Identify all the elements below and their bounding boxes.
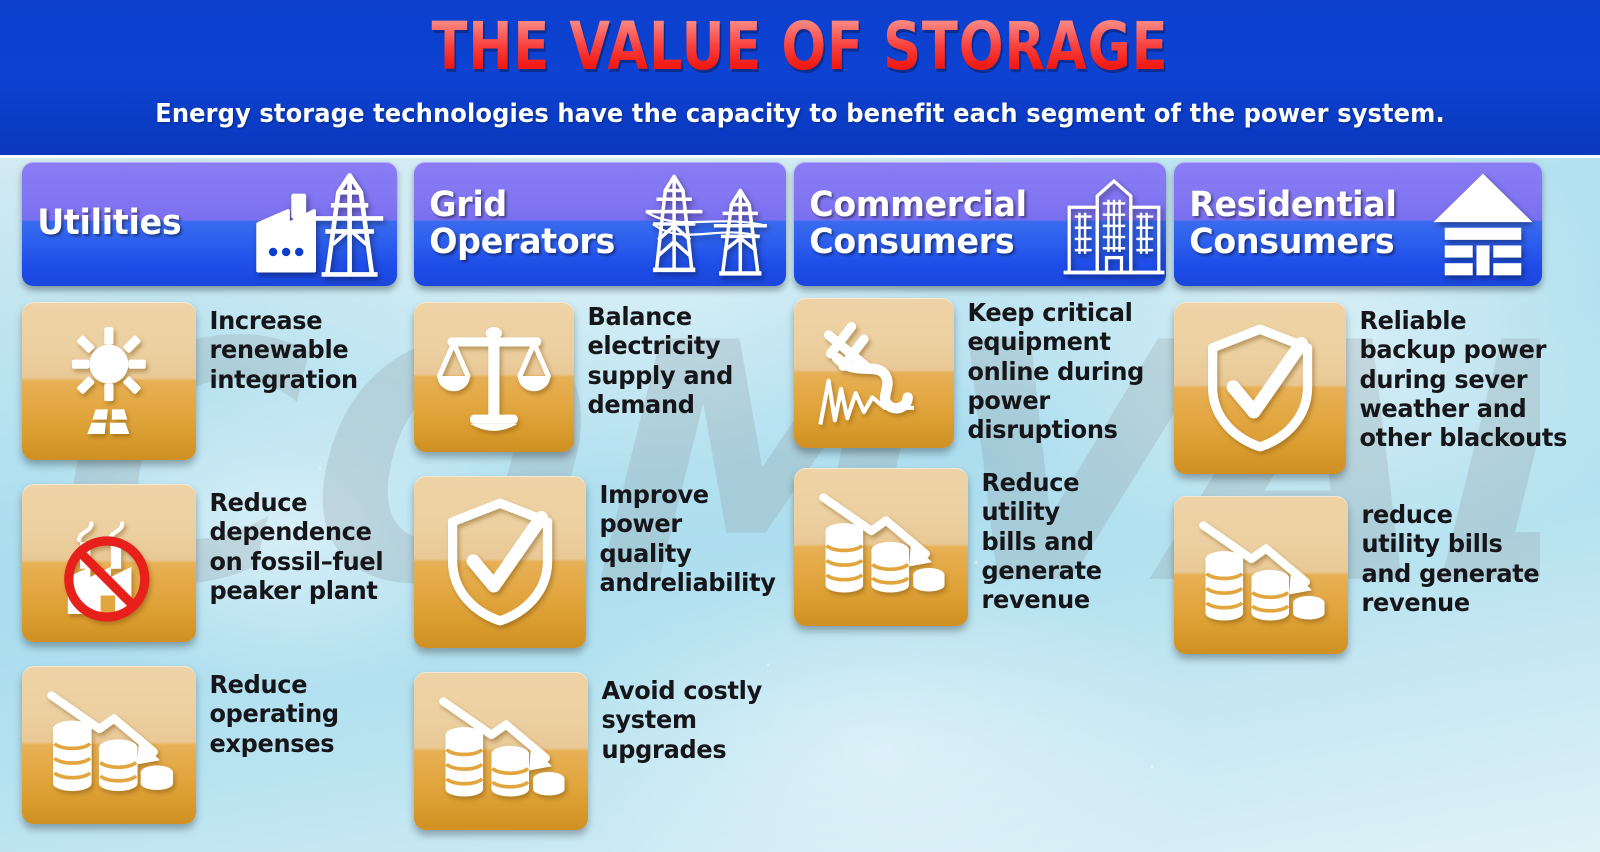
no-fossil-fuel-plant-icon xyxy=(22,484,196,642)
house-icon xyxy=(1408,168,1542,280)
category-card-residential-consumers[interactable]: Residential Consumers xyxy=(1174,162,1542,286)
solar-panel-sun-icon xyxy=(22,302,196,460)
category-card-grid-operators[interactable]: Grid Operators xyxy=(414,162,786,286)
list-item[interactable]: Reduce dependence on fossil–fuel peaker … xyxy=(22,484,408,642)
shield-check-icon xyxy=(414,476,586,648)
poster-header: THE VALUE OF STORAGE Energy storage tech… xyxy=(0,0,1600,158)
page-subtitle: Energy storage technologies have the cap… xyxy=(56,99,1544,129)
column-grid-operators: Grid Operators xyxy=(408,162,786,852)
list-item[interactable]: Keep critical equipment online during po… xyxy=(794,298,1166,448)
benefit-list-commercial-consumers: Keep critical equipment online during po… xyxy=(794,298,1166,626)
shield-check-icon xyxy=(1174,302,1346,474)
list-item[interactable]: Balance electricity supply and demand xyxy=(414,302,786,452)
infographic-poster: COMVAL THE VALUE OF STORAGE Energy stora… xyxy=(0,0,1600,852)
list-item[interactable]: Avoid costly system upgrades xyxy=(414,672,786,830)
list-item-label: Keep critical equipment online during po… xyxy=(954,298,1144,444)
list-item-label: Reduce utility bills and generate revenu… xyxy=(968,468,1102,614)
page-title: THE VALUE OF STORAGE xyxy=(160,0,1440,80)
list-item[interactable]: Reduce operating expenses xyxy=(22,666,408,824)
list-item-label: Reliable backup power during sever weath… xyxy=(1346,302,1567,452)
category-card-commercial-consumers[interactable]: Commercial Consumers xyxy=(794,162,1166,286)
benefit-list-residential-consumers: Reliable backup power during sever weath… xyxy=(1174,302,1600,654)
transmission-towers-icon xyxy=(630,168,780,280)
column-residential-consumers: Residential Consumers xyxy=(1166,162,1600,852)
list-item[interactable]: reduce utility bills and generate revenu… xyxy=(1174,496,1600,654)
list-item-label: Increase renewable integration xyxy=(196,302,358,394)
coins-down-arrow-icon xyxy=(1174,496,1348,654)
list-item-label: Avoid costly system upgrades xyxy=(588,672,762,764)
list-item[interactable]: Improve power quality andreliability xyxy=(414,476,786,648)
list-item-label: Reduce operating expenses xyxy=(196,666,339,758)
list-item[interactable]: Increase renewable integration xyxy=(22,302,408,460)
coins-down-arrow-icon xyxy=(22,666,196,824)
office-building-icon xyxy=(1039,168,1166,280)
column-utilities: Utilities xyxy=(0,162,408,852)
coins-down-arrow-icon xyxy=(794,468,968,626)
benefit-list-utilities: Increase renewable integration xyxy=(22,302,408,824)
unplugged-signal-icon xyxy=(794,298,954,448)
category-label-grid-operators: Grid Operators xyxy=(414,187,619,261)
category-card-utilities[interactable]: Utilities xyxy=(22,162,397,286)
list-item-label: reduce utility bills and generate revenu… xyxy=(1348,496,1539,617)
balance-scale-icon xyxy=(414,302,574,452)
list-item-label: Reduce dependence on fossil–fuel peaker … xyxy=(196,484,383,605)
power-plant-transmission-tower-icon xyxy=(241,168,391,280)
category-label-residential-consumers: Residential Consumers xyxy=(1174,187,1397,261)
coins-down-arrow-icon xyxy=(414,672,588,830)
segment-columns: Utilities xyxy=(0,162,1600,852)
category-label-utilities: Utilities xyxy=(22,205,230,242)
benefit-list-grid-operators: Balance electricity supply and demand Im… xyxy=(414,302,786,830)
list-item-label: Balance electricity supply and demand xyxy=(574,302,733,419)
list-item[interactable]: Reliable backup power during sever weath… xyxy=(1174,302,1600,474)
column-commercial-consumers: Commercial Consumers xyxy=(786,162,1166,852)
category-label-commercial-consumers: Commercial Consumers xyxy=(794,187,1027,261)
list-item[interactable]: Reduce utility bills and generate revenu… xyxy=(794,468,1166,626)
list-item-label: Improve power quality andreliability xyxy=(586,476,778,597)
